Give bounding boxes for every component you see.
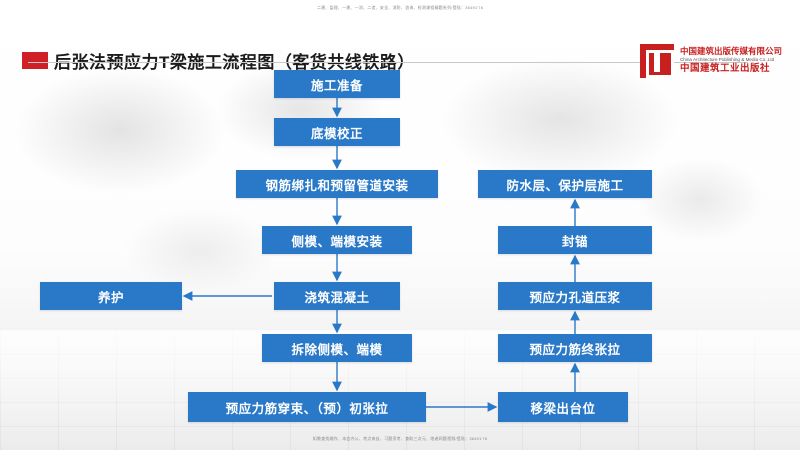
flow-node-n4[interactable]: 侧模、端模安装 xyxy=(262,226,412,254)
flow-node-n9[interactable]: 移梁出台位 xyxy=(498,392,628,422)
flow-node-n8[interactable]: 养护 xyxy=(40,282,182,310)
flow-node-n5[interactable]: 浇筑混凝土 xyxy=(274,282,400,310)
flow-node-n12[interactable]: 封锚 xyxy=(498,226,652,254)
flow-node-n6[interactable]: 拆除侧模、端模 xyxy=(262,334,412,362)
flow-arrows xyxy=(0,0,800,450)
flow-node-n10[interactable]: 预应力筋终张拉 xyxy=(498,334,652,362)
flow-node-n7[interactable]: 预应力筋穿束、（预）初张拉 xyxy=(188,392,426,422)
flow-node-n1[interactable]: 施工准备 xyxy=(274,70,400,98)
flow-node-n2[interactable]: 底模校正 xyxy=(274,118,400,146)
flow-node-n13[interactable]: 防水层、保护层施工 xyxy=(478,170,652,198)
slide: 二建、监理、一建、一消、二造、安全、消防、咨询、检测课程精题系列/登陆：3649… xyxy=(0,0,800,450)
flowchart: 施工准备底模校正钢筋绑扎和预留管道安装侧模、端模安装浇筑混凝土拆除侧模、端模预应… xyxy=(0,0,800,450)
flow-node-n11[interactable]: 预应力孔道压浆 xyxy=(498,282,652,310)
flow-node-n3[interactable]: 钢筋绑扎和预留管道安装 xyxy=(236,170,438,198)
